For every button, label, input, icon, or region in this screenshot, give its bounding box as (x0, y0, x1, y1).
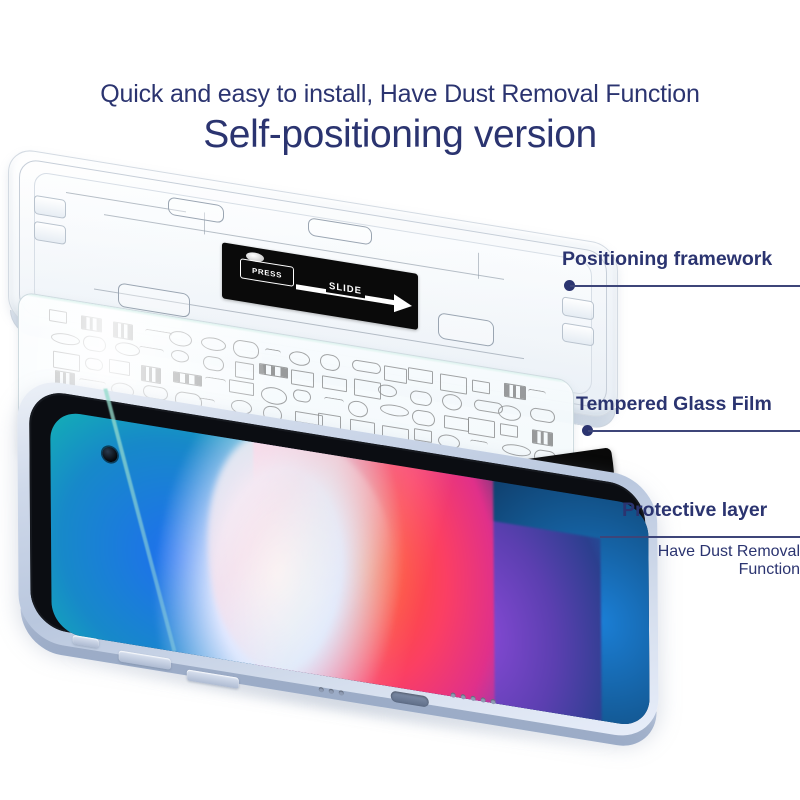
printed-icon (408, 367, 433, 384)
printed-icon (468, 417, 495, 438)
printed-icon (504, 383, 525, 400)
printed-icon (352, 359, 381, 375)
printed-icon (293, 388, 311, 403)
printed-icon (354, 378, 381, 399)
callout-title-1: Positioning framework (562, 249, 772, 270)
printed-icon (528, 388, 546, 406)
callout-title-2: Tempered Glass Film (576, 394, 772, 415)
printed-icon (472, 380, 490, 395)
leader-line-3 (600, 536, 800, 538)
printed-icon (322, 375, 347, 392)
printed-icon (324, 396, 343, 412)
printed-icon (291, 369, 314, 388)
printed-icon (320, 353, 340, 372)
printed-icon (500, 423, 518, 438)
printed-icon (532, 429, 553, 446)
page-title: Self-positioning version (0, 113, 800, 157)
smartphone-illustration (17, 376, 709, 788)
printed-icon (410, 390, 431, 407)
callout-title-3: Protective layer (622, 500, 767, 521)
printed-icon (289, 350, 310, 367)
printed-icon (265, 347, 281, 361)
printed-icon (530, 407, 555, 424)
printed-icon (378, 383, 396, 398)
printed-icon (348, 399, 368, 418)
printed-icon (444, 415, 469, 432)
callout-subtitle-3: Have Dust Removal Function (600, 543, 800, 579)
product-infographic: Quick and easy to install, Have Dust Rem… (0, 0, 800, 800)
leader-line-2 (588, 430, 800, 432)
printed-icon (412, 409, 435, 428)
printed-icon (380, 403, 409, 419)
slide-arrow-head (394, 294, 412, 315)
printed-icon (440, 373, 467, 394)
printed-icon (442, 393, 462, 412)
press-button-box: PRESS (240, 258, 294, 287)
page-subtitle: Quick and easy to install, Have Dust Rem… (0, 80, 800, 109)
printed-icon (498, 404, 521, 423)
callout-positioning-framework: Positioning framework (558, 249, 772, 270)
callout-tempered-glass-film: Tempered Glass Film (572, 394, 772, 415)
framework-hairline-5 (478, 253, 479, 279)
callout-protective-layer: Protective layer (622, 500, 767, 521)
press-label: PRESS (252, 266, 282, 279)
leader-line-1 (570, 285, 800, 287)
printed-icon (384, 365, 407, 384)
